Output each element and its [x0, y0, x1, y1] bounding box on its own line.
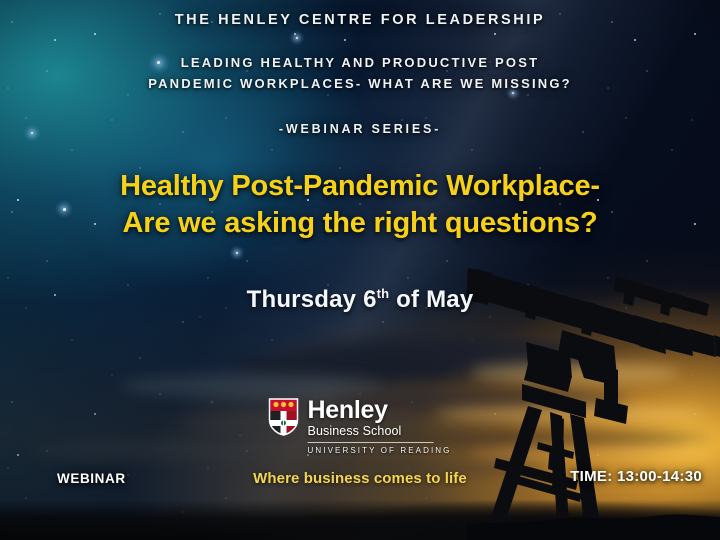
- henley-business-school-logo: Henley Business School UNIVERSITY OF REA…: [269, 398, 452, 457]
- theme-line-2: PANDEMIC WORKPLACES- WHAT ARE WE MISSING…: [0, 73, 720, 94]
- event-date-prefix: Thursday 6: [247, 286, 377, 313]
- series-label: -WEBINAR SERIES-: [0, 122, 720, 136]
- poster-content: THE HENLEY CENTRE FOR LEADERSHIP LEADING…: [0, 0, 720, 540]
- logo-name: Henley: [308, 398, 452, 423]
- headline-line-1: Healthy Post-Pandemic Workplace-: [120, 170, 600, 202]
- headline-line-2: Are we asking the right questions?: [0, 205, 720, 242]
- theme-heading: LEADING HEALTHY AND PRODUCTIVE POST PAND…: [0, 52, 720, 94]
- theme-line-1: LEADING HEALTHY AND PRODUCTIVE POST: [181, 55, 539, 70]
- event-time-label: TIME: 13:00-14:30: [570, 468, 702, 485]
- page-title: Healthy Post-Pandemic Workplace- Are we …: [0, 168, 720, 242]
- event-date-suffix: of May: [389, 286, 473, 313]
- logo-affiliation: UNIVERSITY OF READING: [308, 445, 452, 457]
- webinar-promo-poster: THE HENLEY CENTRE FOR LEADERSHIP LEADING…: [0, 0, 720, 540]
- organisation-title: THE HENLEY CENTRE FOR LEADERSHIP: [0, 12, 720, 28]
- event-date-ordinal: th: [377, 286, 390, 301]
- logo-wordmark: Henley Business School UNIVERSITY OF REA…: [308, 398, 452, 457]
- event-type-label: WEBINAR: [57, 471, 126, 486]
- henley-crest-icon: [269, 398, 299, 436]
- event-date: Thursday 6th of May: [0, 286, 720, 314]
- logo-divider: [308, 442, 434, 443]
- logo-subtitle: Business School: [308, 424, 452, 439]
